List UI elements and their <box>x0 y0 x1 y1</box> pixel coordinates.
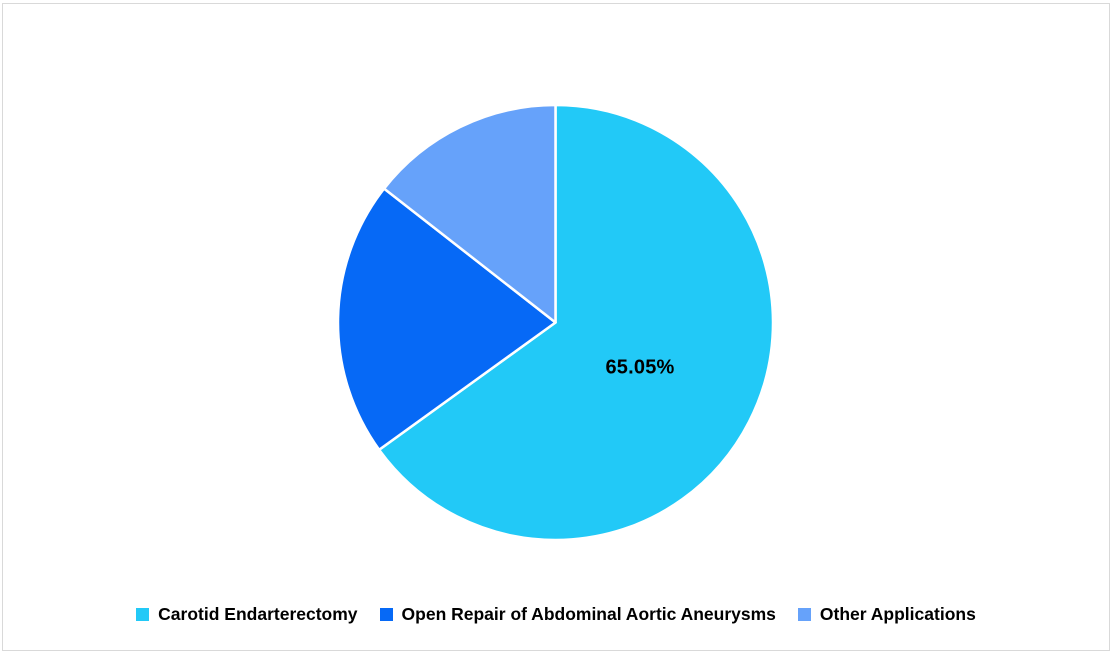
pie-svg <box>0 0 1112 580</box>
chart-legend: Carotid EndarterectomyOpen Repair of Abd… <box>0 596 1112 632</box>
pie-slice-group <box>338 105 773 540</box>
pie-plot-area: 65.05% <box>0 0 1112 580</box>
pie-slice-value-label: 65.05% <box>605 357 674 380</box>
pie-chart-canvas: 65.05% Carotid EndarterectomyOpen Repair… <box>0 0 1112 653</box>
legend-color-swatch-icon <box>798 608 811 621</box>
legend-item[interactable]: Other Applications <box>798 604 976 624</box>
legend-color-swatch-icon <box>136 608 149 621</box>
legend-item-label: Other Applications <box>820 604 976 624</box>
legend-item[interactable]: Open Repair of Abdominal Aortic Aneurysm… <box>380 604 776 624</box>
legend-item[interactable]: Carotid Endarterectomy <box>136 604 357 624</box>
legend-color-swatch-icon <box>380 608 393 621</box>
legend-item-label: Carotid Endarterectomy <box>158 604 357 624</box>
legend-item-label: Open Repair of Abdominal Aortic Aneurysm… <box>402 604 776 624</box>
